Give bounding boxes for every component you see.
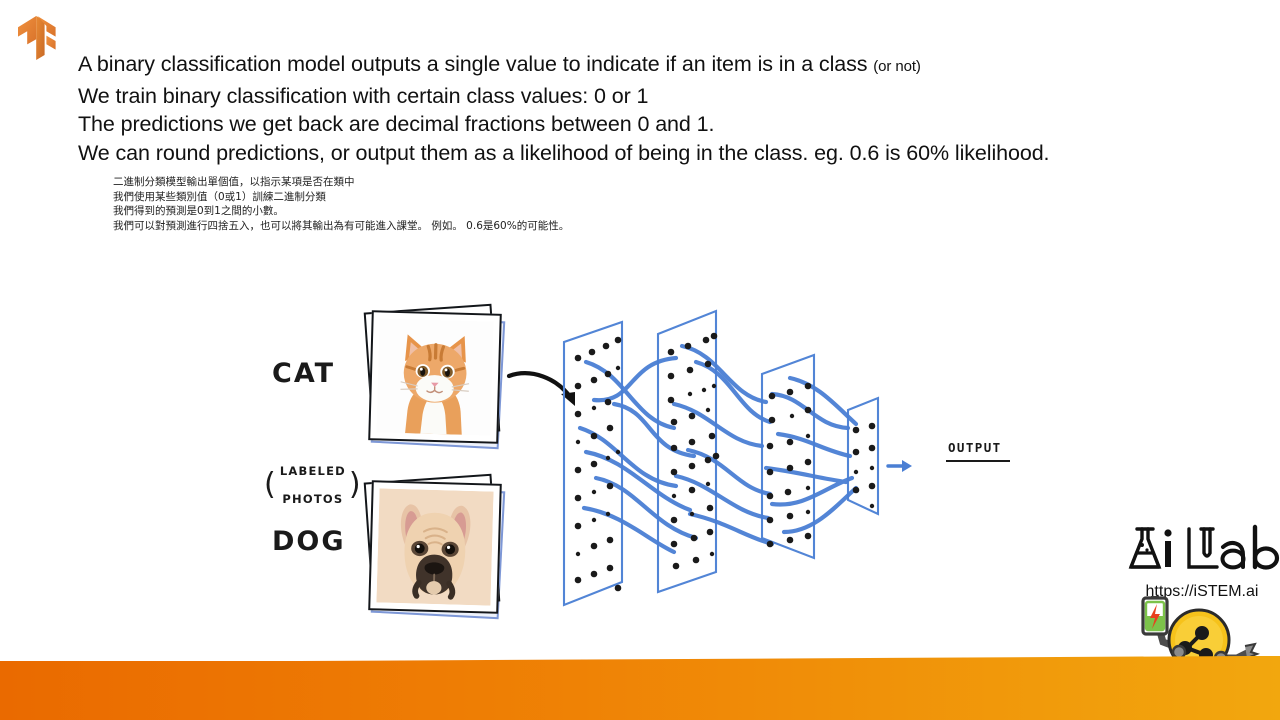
output-underline: [946, 460, 1010, 462]
labeled-photos-line1: LABELED: [280, 464, 346, 478]
english-line-1-note: (or not): [873, 58, 921, 75]
english-line-3: The predictions we get back are decimal …: [78, 110, 1218, 139]
neural-network-diagram: [556, 300, 926, 615]
ailab-wordmark: [1122, 523, 1280, 582]
chinese-line-1: 二進制分類模型輸出單個值，以指示某項是否在類中: [113, 175, 873, 190]
cat-photo-stack: [352, 298, 522, 450]
cat-photo-image: [376, 318, 493, 435]
dog-photo-card-front: [368, 480, 502, 614]
english-body-text: A binary classification model outputs a …: [78, 50, 1218, 167]
neuron-dots-layer-4: [853, 423, 876, 509]
tensorflow-logo: [14, 14, 60, 62]
cat-artwork: [376, 318, 493, 435]
ailab-logo: https://iSTEM.ai: [1122, 523, 1280, 601]
dog-photo-stack: [352, 468, 522, 620]
dog-artwork: [376, 488, 493, 605]
english-line-1-main: A binary classification model outputs a …: [78, 52, 867, 76]
chinese-line-2: 我們使用某些類別值（0或1）訓練二進制分類: [113, 190, 873, 205]
english-line-4: We can round predictions, or output them…: [78, 139, 1218, 168]
paren-open: (: [264, 470, 277, 500]
chinese-line-3: 我們得到的預測是0到1之間的小數。: [113, 204, 873, 219]
label-output: OUTPUT: [948, 440, 1002, 455]
right-arrow-icon: [888, 460, 912, 472]
labeled-photos-inner: LABELED PHOTOS: [277, 450, 349, 520]
dog-photo-image: [376, 488, 493, 605]
label-dog: DOG: [272, 526, 346, 557]
labeled-photos-line2: PHOTOS: [280, 492, 346, 506]
chinese-translation-text: 二進制分類模型輸出單個值，以指示某項是否在類中 我們使用某些類別值（0或1）訓練…: [113, 175, 873, 233]
english-line-2: We train binary classification with cert…: [78, 82, 1218, 111]
layer-plane-4: [848, 398, 878, 514]
cat-photo-card-front: [368, 310, 502, 444]
slide-canvas: A binary classification model outputs a …: [0, 0, 1280, 720]
bottom-gradient-bar: [0, 654, 1280, 720]
english-line-1: A binary classification model outputs a …: [78, 50, 1218, 82]
chinese-line-4: 我們可以對預測進行四捨五入，也可以將其輸出為有可能進入課堂。 例如。 0.6是6…: [113, 219, 873, 234]
label-labeled-photos: ( LABELED PHOTOS ): [264, 450, 362, 520]
label-cat: CAT: [272, 358, 335, 389]
